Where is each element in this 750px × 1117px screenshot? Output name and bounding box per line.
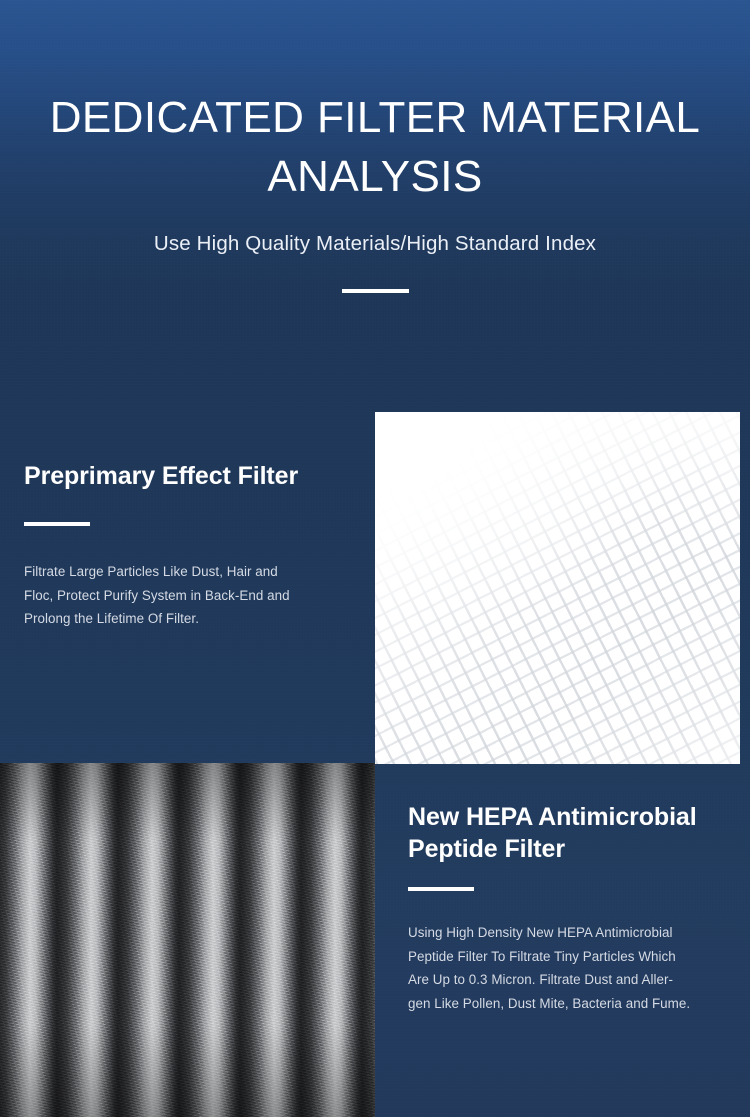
section-divider (24, 522, 90, 526)
section-new-hepa-antimicrobial-peptide-filter: New HEPA Antimicrobial Peptide Filter Us… (408, 801, 740, 1015)
section-preprimary-effect-filter: Preprimary Effect Filter Filtrate Large … (24, 460, 354, 631)
prefilter-image-panel (375, 412, 740, 764)
section-description: Using High Density New HEPA Antimicrobia… (408, 921, 740, 1015)
poster-canvas: DEDICATED FILTER MATERIAL ANALYSIS Use H… (0, 0, 750, 1117)
page-subtitle: Use High Quality Materials/High Standard… (0, 230, 750, 258)
hepa-image-panel (0, 763, 375, 1117)
header-divider (342, 289, 409, 293)
section-description: Filtrate Large Particles Like Dust, Hair… (24, 560, 354, 631)
poster-header: DEDICATED FILTER MATERIAL ANALYSIS Use H… (0, 0, 750, 293)
mesh-highlight-overlay (375, 412, 740, 764)
section-title: New HEPA Antimicrobial Peptide Filter (408, 801, 740, 865)
pleat-shade-overlay (0, 763, 375, 1117)
page-title: DEDICATED FILTER MATERIAL ANALYSIS (0, 88, 750, 206)
section-divider (408, 887, 474, 891)
section-title: Preprimary Effect Filter (24, 460, 354, 492)
